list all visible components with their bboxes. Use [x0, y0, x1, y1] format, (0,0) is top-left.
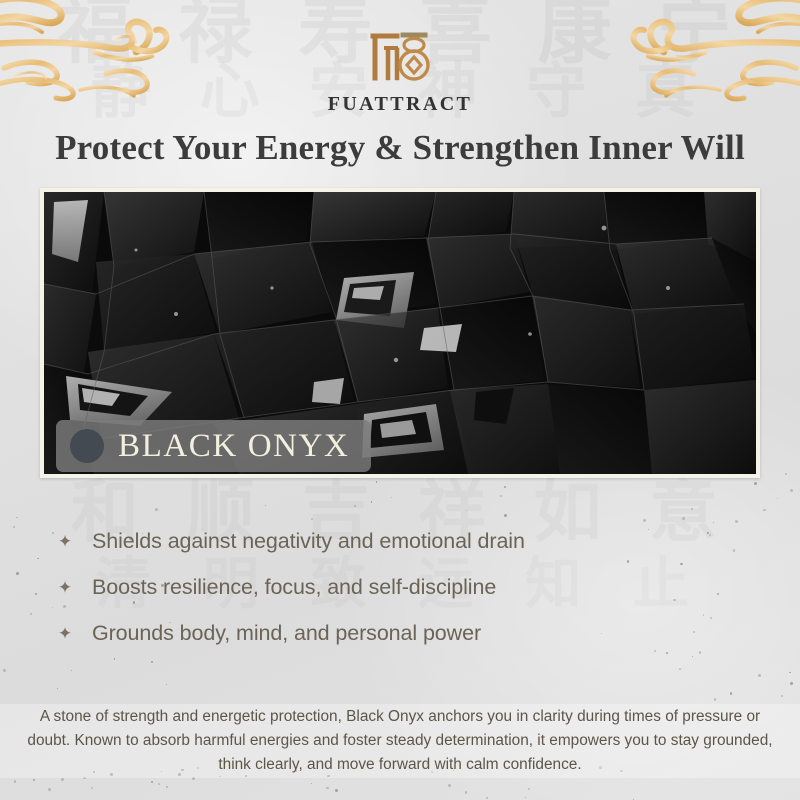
benefits-list: ✦ Shields against negativity and emotion…: [56, 518, 756, 656]
benefit-item: ✦ Shields against negativity and emotion…: [56, 518, 756, 564]
benefit-label: Shields against negativity and emotional…: [92, 529, 525, 554]
stone-name: BLACK ONYX: [118, 428, 349, 465]
brand-name: FUATTRACT: [0, 93, 800, 116]
footer-panel: A stone of strength and energetic protec…: [0, 704, 800, 778]
stone-badge: BLACK ONYX: [56, 420, 371, 472]
sparkle-diamond-icon: ✦: [56, 625, 74, 642]
benefit-item: ✦ Boosts resilience, focus, and self-dis…: [56, 564, 756, 610]
sparkle-diamond-icon: ✦: [56, 533, 74, 550]
brand-header: FUATTRACT: [0, 26, 800, 116]
benefit-label: Boosts resilience, focus, and self-disci…: [92, 575, 496, 600]
fuattract-logo-icon: [0, 26, 800, 89]
sparkle-diamond-icon: ✦: [56, 579, 74, 596]
benefit-label: Grounds body, mind, and personal power: [92, 621, 481, 646]
poster-canvas: 福 禄 寿 喜 康 宁 静 心 安 神 守 真 和 顺 吉 祥 如 意 清 明 …: [0, 0, 800, 800]
black-onyx-photo: BLACK ONYX: [44, 192, 756, 474]
stone-description: A stone of strength and energetic protec…: [26, 705, 774, 777]
stone-color-swatch-icon: [70, 429, 104, 463]
hero-image-frame: BLACK ONYX: [40, 188, 760, 478]
benefit-item: ✦ Grounds body, mind, and personal power: [56, 610, 756, 656]
page-title: Protect Your Energy & Strengthen Inner W…: [0, 128, 800, 168]
